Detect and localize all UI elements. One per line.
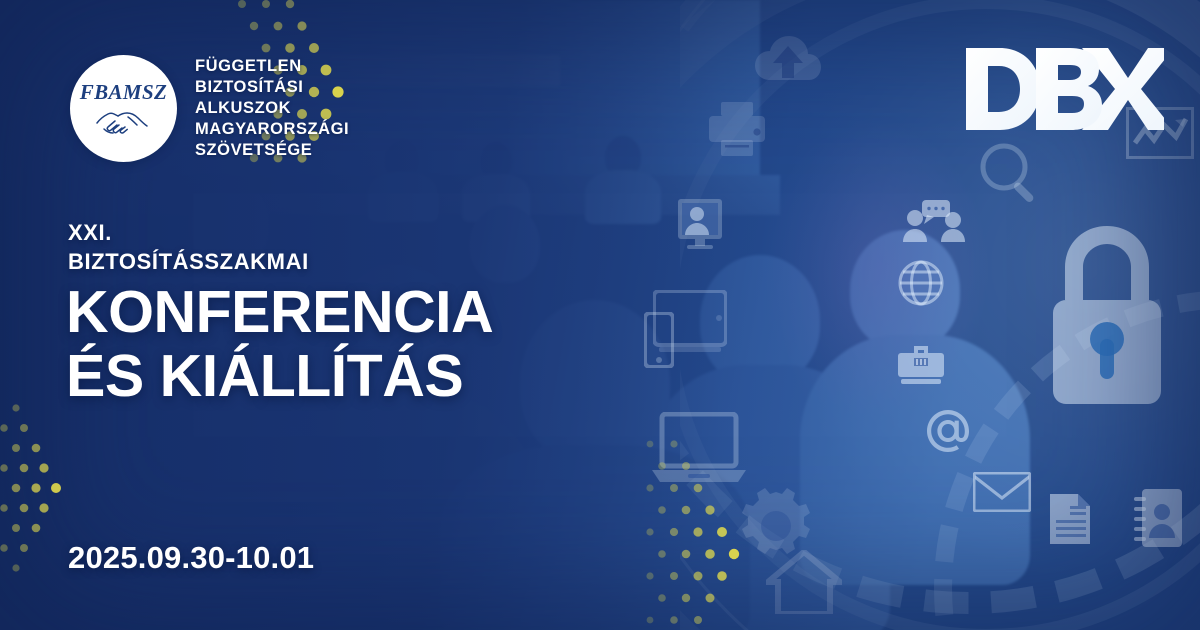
dbx-logo [964,46,1164,132]
conference-banner: FBAMSZ FÜGGETLEN BIZTOSÍTÁSI ALKUSZOK MA… [0,0,1200,630]
association-logo: FBAMSZ FÜGGETLEN BIZTOSÍTÁSI ALKUSZOK MA… [70,55,349,162]
event-date: 2025.09.30-10.01 [68,540,314,576]
headline-title: KONFERENCIA ÉS KIÁLLÍTÁS [66,280,493,409]
association-name: FÜGGETLEN BIZTOSÍTÁSI ALKUSZOK MAGYARORS… [195,56,349,161]
headline-kicker: XXI. BIZTOSÍTÁSSZAKMAI [68,219,493,276]
handshake-icon [95,105,153,135]
dot-chevron-center [636,430,826,630]
association-wordmark: FBAMSZ [80,82,168,103]
association-logo-badge: FBAMSZ [70,55,177,162]
headline-block: XXI. BIZTOSÍTÁSSZAKMAI KONFERENCIA ÉS KI… [66,219,493,409]
